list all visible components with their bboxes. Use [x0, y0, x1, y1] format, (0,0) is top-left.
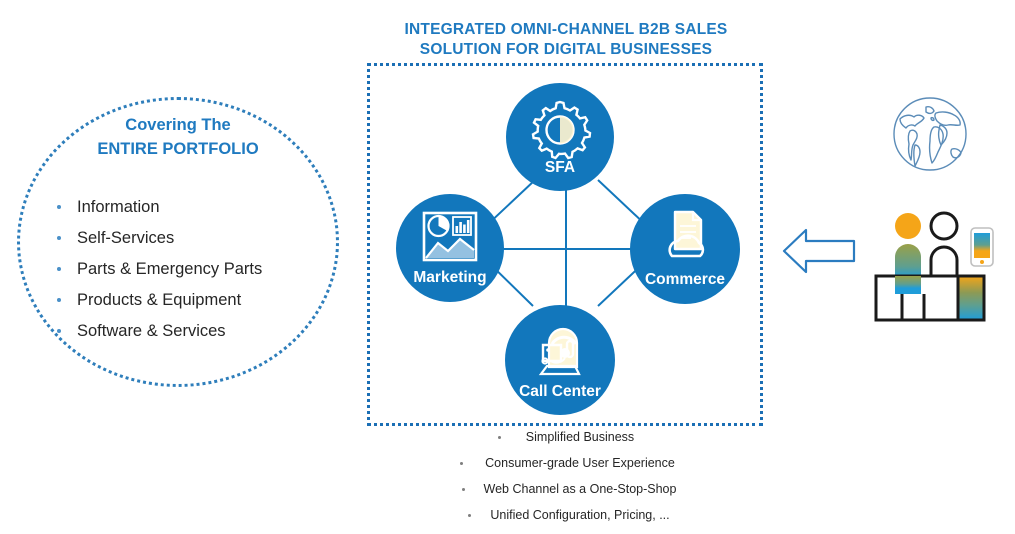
portfolio-heading-line-1: Covering The — [40, 113, 316, 137]
page-title: INTEGRATED OMNI-CHANNEL B2B SALES SOLUTI… — [368, 20, 764, 60]
bullet-icon — [57, 267, 61, 271]
counter-panel — [958, 276, 984, 320]
portfolio-item-label: Information — [77, 198, 160, 216]
list-item: Web Channel as a One-Stop-Shop — [430, 482, 730, 496]
staff-body — [931, 247, 957, 278]
headset-agent-icon — [531, 321, 589, 382]
bullet-icon — [462, 488, 465, 491]
page-title-line-2: SOLUTION FOR DIGITAL BUSINESSES — [368, 40, 764, 60]
list-item: Software & Services — [55, 320, 325, 342]
portfolio-heading: Covering The ENTIRE PORTFOLIO — [40, 113, 316, 161]
benefit-label: Web Channel as a One-Stop-Shop — [484, 482, 677, 496]
node-commerce-label: Commerce — [630, 271, 740, 289]
bullet-icon — [468, 514, 471, 517]
gear-icon — [528, 96, 592, 165]
bullet-icon — [57, 236, 61, 240]
portfolio-item-label: Software & Services — [77, 322, 226, 340]
globe-icon — [884, 93, 976, 175]
list-item: Products & Equipment — [55, 289, 325, 311]
list-item: Consumer-grade User Experience — [430, 456, 730, 470]
node-sfa-label: SFA — [506, 159, 614, 177]
node-callcenter-label: Call Center — [505, 383, 615, 401]
node-commerce[interactable]: Commerce — [630, 194, 740, 304]
bullet-icon — [57, 205, 61, 209]
list-item: Parts & Emergency Parts — [55, 258, 325, 280]
benefits-list: Simplified Business Consumer-grade User … — [430, 430, 730, 534]
page-title-line-1: INTEGRATED OMNI-CHANNEL B2B SALES — [368, 20, 764, 40]
node-callcenter[interactable]: Call Center — [505, 305, 615, 415]
node-marketing-label: Marketing — [396, 269, 504, 287]
portfolio-item-label: Self-Services — [77, 229, 174, 247]
customer-head — [895, 213, 921, 239]
node-sfa[interactable]: SFA — [506, 83, 614, 191]
portfolio-item-label: Parts & Emergency Parts — [77, 260, 262, 278]
bullet-icon — [57, 298, 61, 302]
slide-canvas: INTEGRATED OMNI-CHANNEL B2B SALES SOLUTI… — [0, 0, 1015, 527]
bullet-icon — [57, 329, 61, 333]
left-arrow-icon — [782, 222, 856, 280]
bullet-icon — [498, 436, 501, 439]
portfolio-item-label: Products & Equipment — [77, 291, 241, 309]
portfolio-heading-line-2: ENTIRE PORTFOLIO — [40, 137, 316, 161]
list-item: Simplified Business — [430, 430, 730, 444]
customers-at-counter-icon — [872, 208, 998, 330]
benefit-label: Simplified Business — [526, 430, 634, 444]
document-cloud-icon — [655, 209, 715, 272]
staff-head — [931, 213, 957, 239]
node-marketing[interactable]: Marketing — [396, 194, 504, 302]
portfolio-list: Information Self-Services Parts & Emerge… — [55, 196, 325, 351]
list-item: Self-Services — [55, 227, 325, 249]
benefit-label: Consumer-grade User Experience — [485, 456, 675, 470]
analytics-chart-icon — [421, 210, 479, 271]
list-item: Information — [55, 196, 325, 218]
list-item: Unified Configuration, Pricing, ... — [430, 508, 730, 522]
benefit-label: Unified Configuration, Pricing, ... — [490, 508, 669, 522]
bullet-icon — [460, 462, 463, 465]
